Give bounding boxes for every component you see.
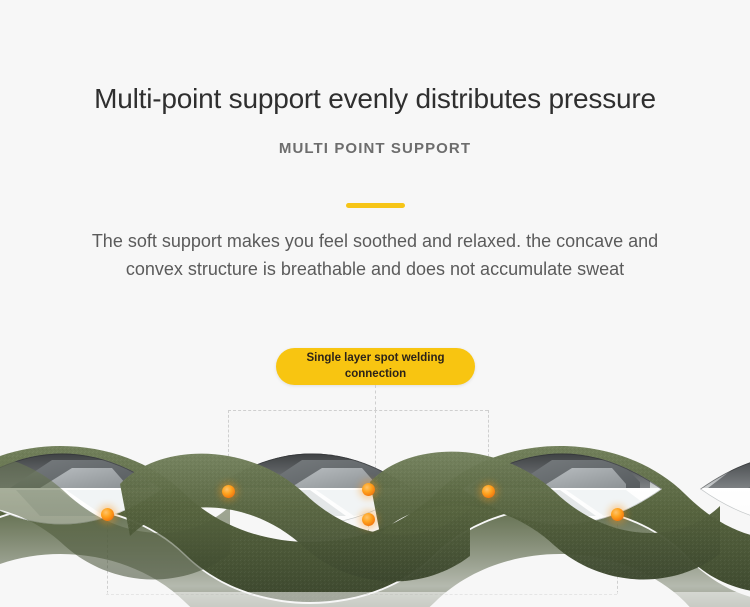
divider-bar bbox=[346, 203, 405, 208]
node-center-lower bbox=[362, 513, 375, 526]
leader-badge-stem bbox=[375, 385, 376, 410]
node-center-upper bbox=[362, 483, 375, 496]
callout-badge-line-2: connection bbox=[345, 368, 406, 380]
page-title: Multi-point support evenly distributes p… bbox=[0, 82, 750, 116]
callout-badge-line-1: Single layer spot welding bbox=[306, 352, 444, 364]
leader-top-bracket bbox=[228, 410, 488, 411]
page-subtitle: MULTI POINT SUPPORT bbox=[0, 140, 750, 157]
body-copy: The soft support makes you feel soothed … bbox=[0, 228, 750, 284]
body-copy-line-1: The soft support makes you feel soothed … bbox=[0, 228, 750, 256]
node-right-lower bbox=[611, 508, 624, 521]
node-left-lower bbox=[101, 508, 114, 521]
product-feature-panel: Multi-point support evenly distributes p… bbox=[0, 0, 750, 607]
body-copy-line-2: convex structure is breathable and does … bbox=[0, 256, 750, 284]
node-left-upper bbox=[222, 485, 235, 498]
callout-badge: Single layer spot welding connection bbox=[276, 348, 475, 385]
node-right-upper bbox=[482, 485, 495, 498]
callout-badge-label: Single layer spot welding connection bbox=[306, 351, 444, 382]
